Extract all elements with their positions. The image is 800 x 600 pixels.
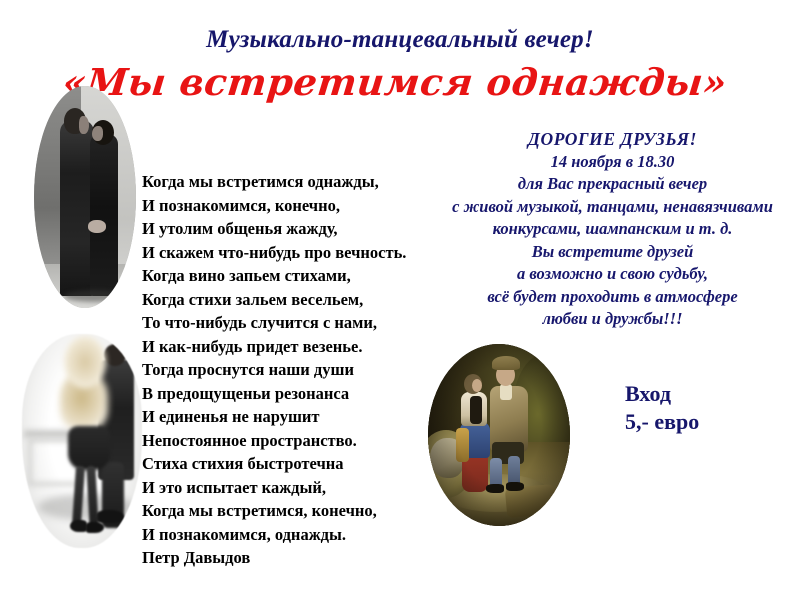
photo-man-body xyxy=(60,120,94,296)
poem-line: Когда мы встретимся однажды, xyxy=(142,170,442,194)
poem-line: Когда мы встретимся, конечно, xyxy=(142,499,442,523)
photo-woman-face xyxy=(92,126,103,141)
poem-line: И познакомимся, конечно, xyxy=(142,194,442,218)
poem-line: И единенья не нарушит xyxy=(142,405,442,429)
entrance-price-block: Вход 5,- евро xyxy=(625,380,699,436)
rustic-couple-painting xyxy=(428,344,570,526)
invitation-line: любви и дружбы!!! xyxy=(425,308,800,331)
poem-line: И познакомимся, однажды. xyxy=(142,523,442,547)
dancers-woman-heel-right xyxy=(86,522,104,533)
invitation-date: 14 ноября в 18.30 xyxy=(425,151,800,174)
invitation-line: для Вас прекрасный вечер xyxy=(425,173,800,196)
invitation-line: всё будет проходить в атмосфере xyxy=(425,286,800,309)
poem-line: Непостоянное пространство. xyxy=(142,429,442,453)
photo-ground-shadow xyxy=(64,290,124,302)
dancers-woman-heel-left xyxy=(70,520,87,532)
photo-joined-hands xyxy=(88,220,106,233)
poem-line: И как-нибудь придет везенье. xyxy=(142,335,442,359)
poem-line: И утолим общенья жажду, xyxy=(142,217,442,241)
invitation-block: ДОРОГИЕ ДРУЗЬЯ! 14 ноября в 18.30 для Ва… xyxy=(425,128,800,331)
dancers-man-shoe xyxy=(96,510,124,523)
invitation-headline: ДОРОГИЕ ДРУЗЬЯ! xyxy=(425,128,800,151)
poem-line: Когда стихи зальем весельем, xyxy=(142,288,442,312)
painting-vignette xyxy=(428,344,570,526)
page-title: Музыкально-танцевальный вечер! xyxy=(0,26,800,54)
invitation-line: а возможно и свою судьбу, xyxy=(425,263,800,286)
poem-line: И скажем что-нибудь про вечность. xyxy=(142,241,442,265)
poem-line: То что-нибудь случится с нами, xyxy=(142,311,442,335)
poem-line: И это испытает каждый, xyxy=(142,476,442,500)
dancers-woman-leg-right xyxy=(86,466,98,528)
photo-man-face xyxy=(79,116,89,134)
poem-block: Когда мы встретимся однажды, И познакоми… xyxy=(142,170,442,570)
entrance-price: 5,- евро xyxy=(625,408,699,436)
poem-line: В предощущеньи резонанса xyxy=(142,382,442,406)
poster-canvas: Музыкально-танцевальный вечер! «Мы встре… xyxy=(0,0,800,600)
dancers-photo xyxy=(22,334,142,548)
dancers-woman-skirt xyxy=(68,426,110,470)
poem-line: Стиха стихия быстротечна xyxy=(142,452,442,476)
poem-line: Когда вино запьем стихами, xyxy=(142,264,442,288)
invitation-line: конкурсами, шампанским и т. д. xyxy=(425,218,800,241)
poem-author: Петр Давыдов xyxy=(142,546,442,570)
dancers-man-head xyxy=(104,344,126,366)
photo-woman-body xyxy=(90,134,118,296)
poem-line: Тогда проснутся наши души xyxy=(142,358,442,382)
invitation-line: Вы встретите друзей xyxy=(425,241,800,264)
entrance-label: Вход xyxy=(625,380,699,408)
invitation-line: с живой музыкой, танцами, ненавязчивами xyxy=(425,196,800,219)
couple-photo xyxy=(34,86,136,308)
dancers-woman-hair xyxy=(64,336,106,388)
